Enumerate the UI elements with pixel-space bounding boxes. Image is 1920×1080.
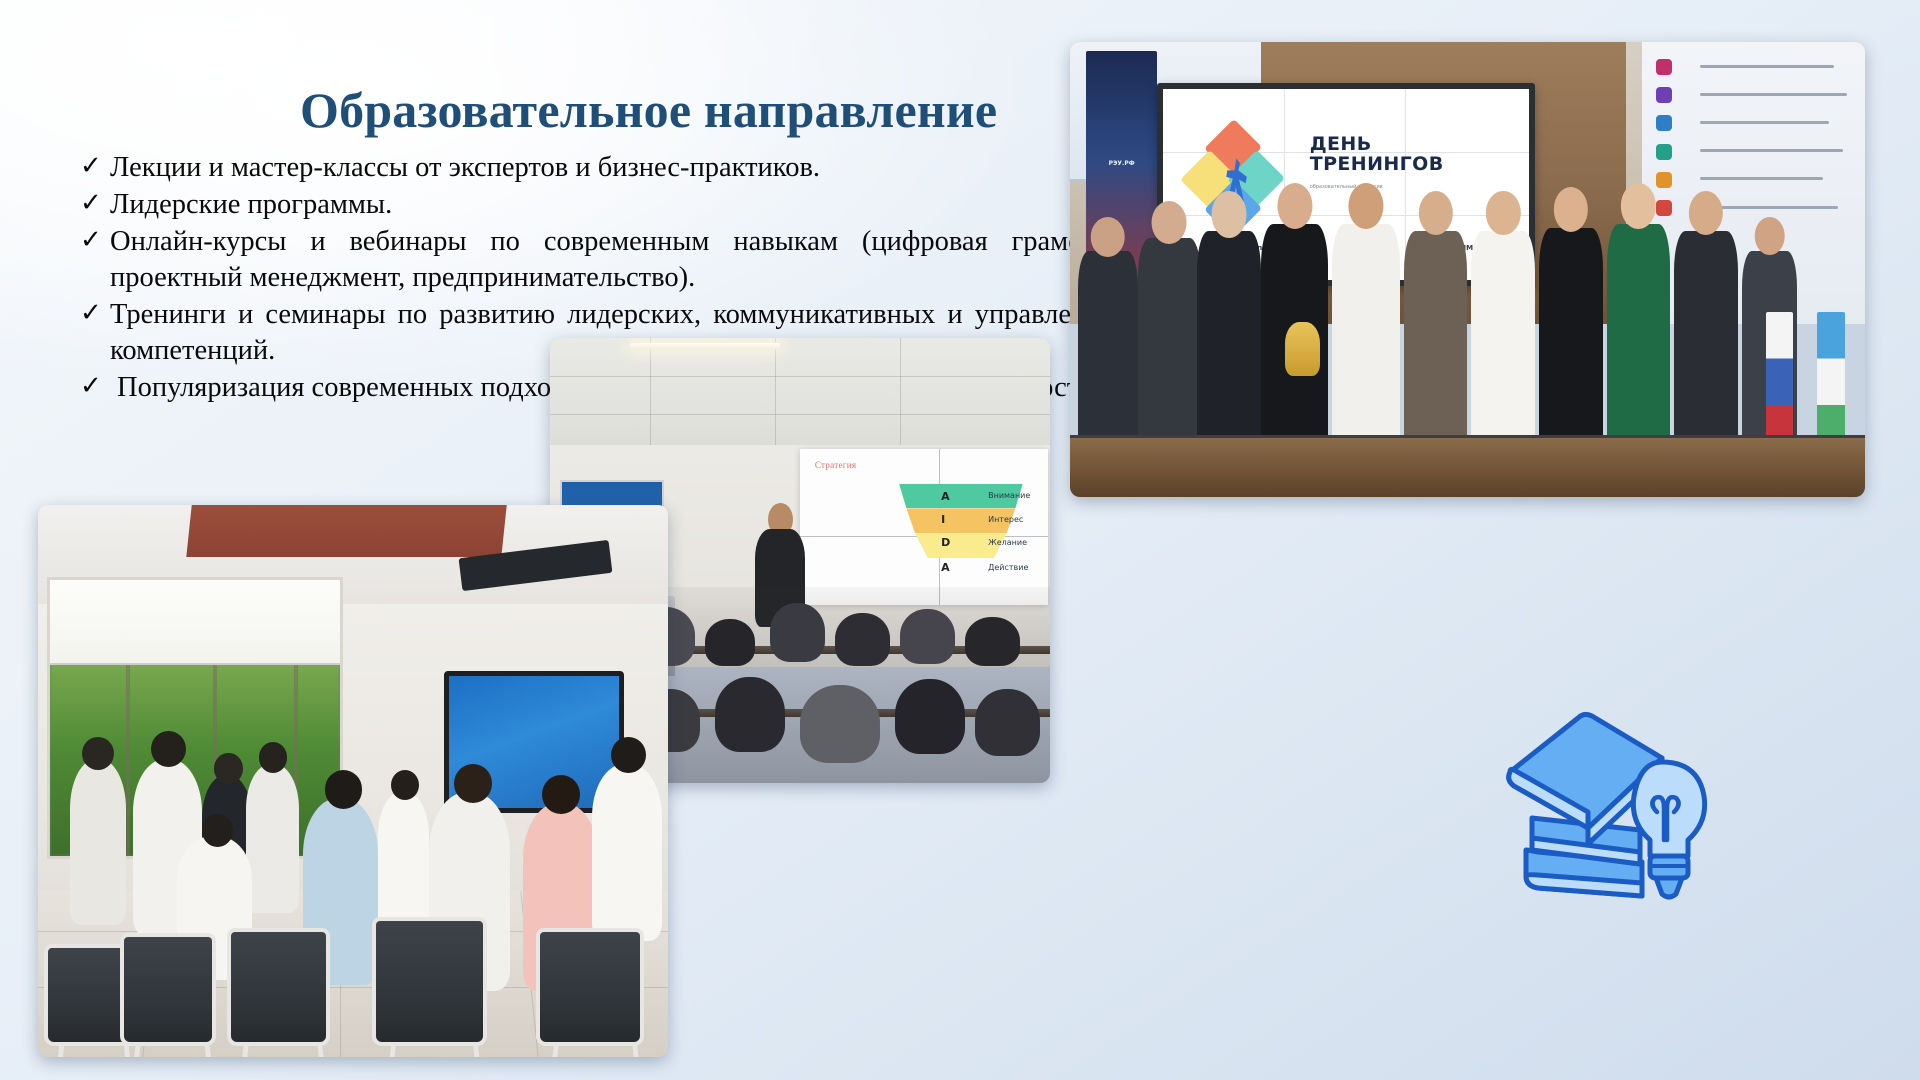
photo-group-award: РЭУ.РФ ДЕНЬ ТРЕНИНГОВ (1070, 42, 1865, 497)
photo-person-head (151, 731, 186, 767)
funnel-label: Действие (988, 563, 1028, 572)
photo-projection-screen: Стратегия A I D A Внимание Интерес Желан… (800, 449, 1048, 605)
funnel-letter: A (941, 561, 950, 574)
checkmark-icon: ✓ (80, 150, 110, 184)
photo-person (70, 759, 127, 925)
page-title: Образовательное направление (300, 82, 1080, 138)
photo-chair (120, 933, 216, 1046)
ceiling-light (630, 343, 780, 349)
checkmark-icon: ✓ (80, 224, 110, 258)
photo-person-head (325, 770, 363, 809)
list-item: ✓ Лекции и мастер-классы от экспертов и … (80, 150, 1170, 186)
photo-person-head (542, 775, 580, 814)
photo-conference-table (1070, 435, 1865, 497)
photo-person (246, 764, 300, 913)
list-item-text: Лекции и мастер-классы от экспертов и би… (110, 150, 1170, 186)
funnel-letter: D (941, 536, 950, 549)
photo-person-head (214, 753, 242, 783)
books-lightbulb-icon (1492, 700, 1732, 915)
checkmark-icon: ✓ (80, 297, 110, 331)
photo-ceiling-beam (186, 505, 507, 557)
funnel-letter: A (941, 490, 950, 503)
list-item-text: Лидерские программы. (110, 187, 1170, 223)
screen-title-line1: ДЕНЬ (1310, 135, 1444, 155)
list-item: ✓ Лидерские программы. (80, 187, 1170, 223)
checkmark-icon: ✓ (80, 187, 110, 221)
photo-person-head (454, 764, 492, 803)
flag-uzbekistan-icon (1817, 312, 1845, 453)
photo-person (592, 764, 661, 941)
photo-classroom-workshop (38, 505, 668, 1057)
photo-ceiling (550, 338, 1050, 454)
photo-person (378, 792, 428, 936)
photo-person-head (611, 737, 646, 773)
checkmark-icon: ✓ (80, 370, 110, 404)
photo-chair (536, 928, 645, 1046)
flag-russia-icon (1766, 312, 1794, 453)
funnel-label: Интерес (988, 515, 1023, 524)
presentation-slide: Образовательное направление ✓ Лекции и м… (0, 0, 1920, 1080)
funnel-label: Внимание (988, 491, 1030, 500)
photo-chair (227, 928, 330, 1046)
award-trophy-icon (1285, 322, 1321, 376)
funnel-label: Желание (988, 538, 1027, 547)
photo-person-head (259, 742, 287, 772)
photo-person-head (82, 737, 114, 770)
funnel-letter: I (941, 513, 945, 526)
funnel-slide-title: Стратегия (815, 460, 856, 470)
list-item: ✓ Онлайн-курсы и вебинары по современным… (80, 224, 1170, 296)
list-item-text: Онлайн-курсы и вебинары по современным н… (110, 224, 1170, 296)
photo-chair (372, 917, 487, 1046)
